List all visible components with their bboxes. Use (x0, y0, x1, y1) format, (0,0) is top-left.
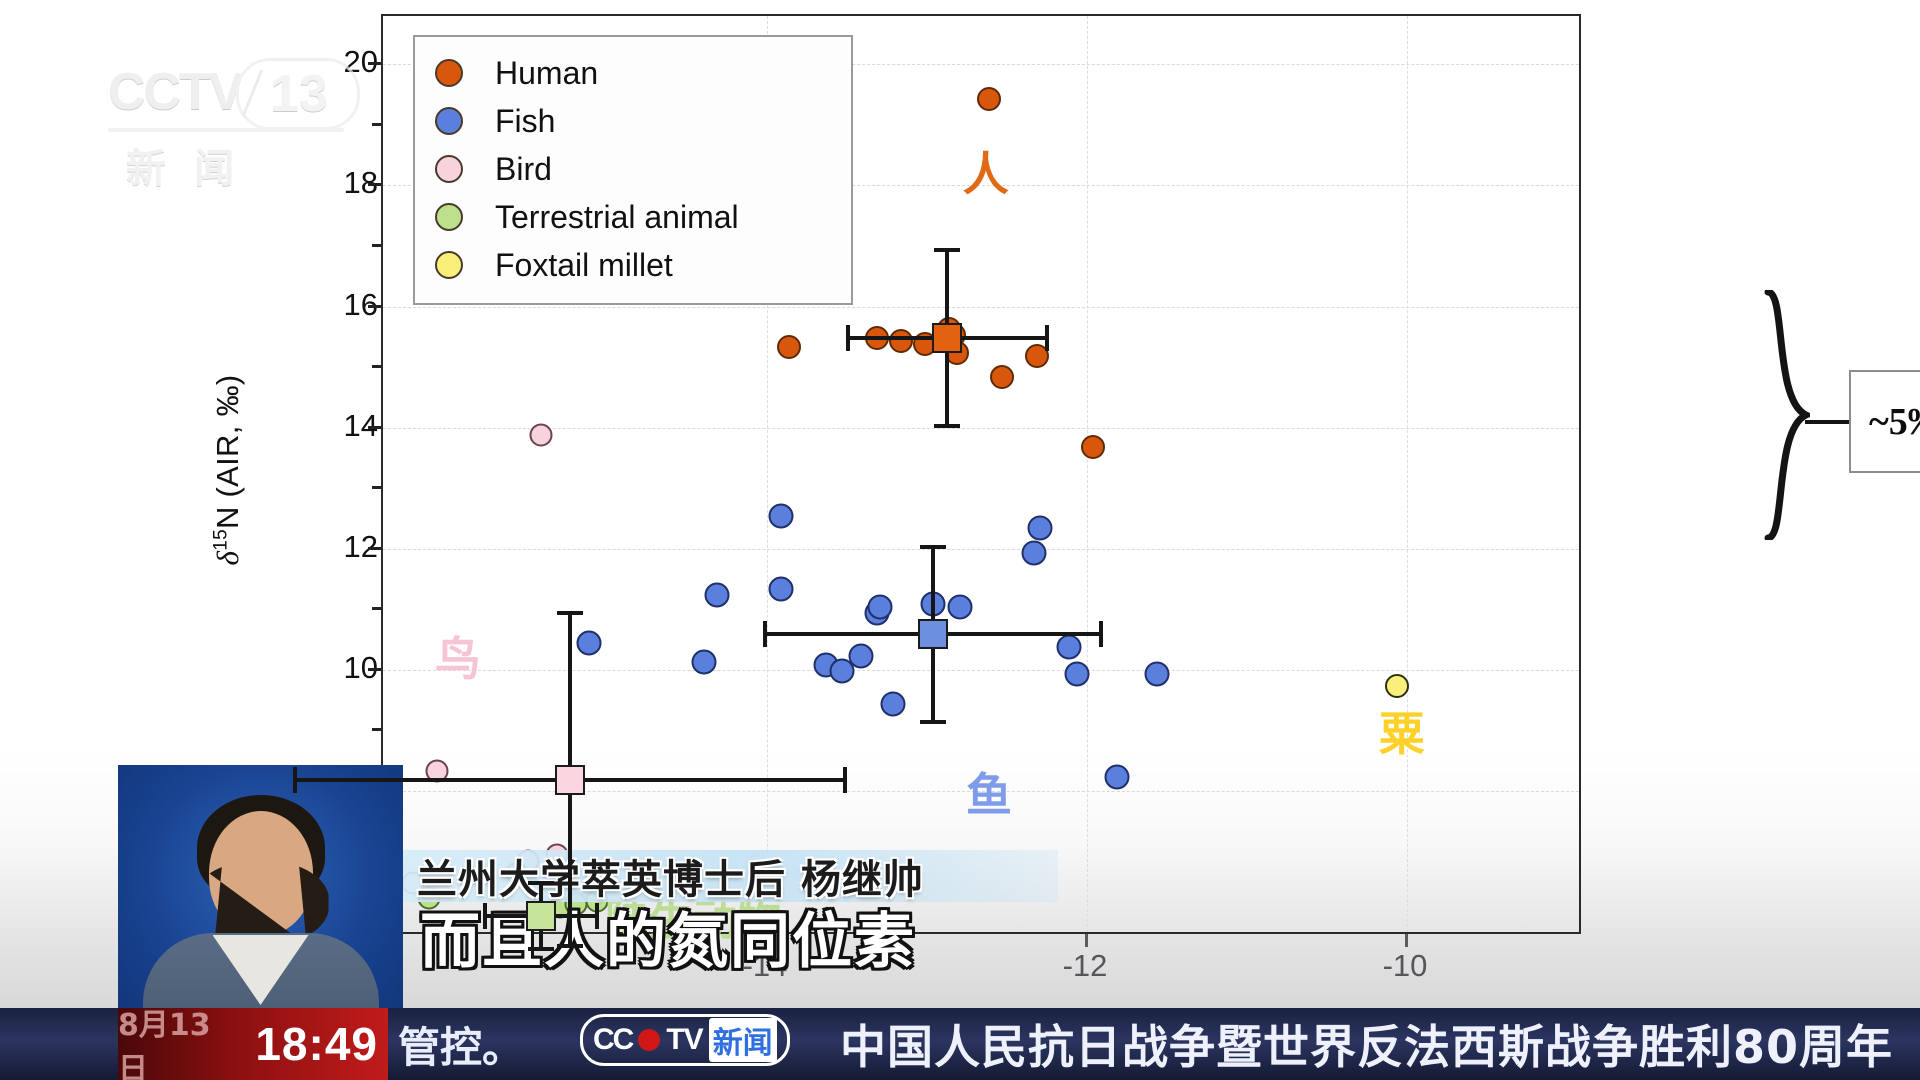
legend-item-terrestrial-animal: Terrestrial animal (435, 193, 835, 241)
y-tick-mark (368, 183, 381, 186)
data-point-human (777, 335, 801, 359)
legend-item-bird: Bird (435, 145, 835, 193)
data-point-fish (881, 692, 906, 717)
screenshot-root: 人鱼鸟陆生动物粟 8101214161820-14-12-10 ~5‰ δ15N… (0, 0, 1920, 1080)
cctv-watermark: CCTV 13 新闻 (108, 66, 348, 178)
error-bar-cap (528, 881, 554, 885)
data-point-fish (1021, 540, 1046, 565)
y-minor-tick-mark (372, 244, 381, 247)
mean-marker-human (932, 323, 962, 353)
y-minor-tick-mark (372, 607, 381, 610)
badge-tv-text: TV (666, 1023, 702, 1057)
y-gridline (383, 307, 1579, 308)
data-point-fish (769, 577, 794, 602)
mean-marker-fish (918, 619, 948, 649)
error-bar-cap (763, 621, 767, 647)
legend-item-label: Fish (495, 105, 555, 137)
data-point-fish (1057, 634, 1082, 659)
clock-widget: 8月13日 18:49 (118, 1008, 388, 1080)
x-gridline (1407, 16, 1408, 932)
y-gridline (383, 428, 1579, 429)
error-bar-cap (920, 545, 946, 549)
y-tick-mark (368, 426, 381, 429)
callout-label: ~5‰ (1851, 400, 1920, 444)
data-point-fish (577, 631, 602, 656)
data-point-fish (1145, 661, 1170, 686)
watermark-underline (108, 128, 344, 132)
data-point-human (889, 329, 913, 353)
annotation-human: 人 (963, 138, 1009, 204)
legend-swatch-icon (435, 155, 463, 183)
data-point-fish (1028, 516, 1053, 541)
legend-swatch-icon (435, 107, 463, 135)
y-minor-tick-mark (372, 123, 381, 126)
data-point-fish (948, 595, 973, 620)
data-point-fish (769, 504, 794, 529)
y-tick-mark (368, 62, 381, 65)
y-minor-tick-mark (372, 728, 381, 731)
watermark-channel-number: 13 (270, 64, 328, 124)
legend-item-label: Foxtail millet (495, 249, 673, 281)
y-tick-mark (368, 668, 381, 671)
legend-item-label: Human (495, 57, 598, 89)
data-point-fish (692, 649, 717, 674)
subtitle-caption: 而且人的氮同位素 (420, 900, 916, 972)
x-tick-mark (1405, 934, 1408, 947)
badge-red-dot-icon (638, 1029, 660, 1051)
error-bar-cap (595, 903, 599, 929)
y-axis-label: δ15N (AIR, ‰) (210, 374, 246, 565)
watermark-news-text: 新闻 (126, 136, 262, 194)
y-minor-tick-mark (372, 365, 381, 368)
delta-callout-box: ~5‰ (1849, 370, 1920, 473)
error-bar-cap (557, 611, 583, 615)
error-bar-cap (557, 944, 583, 948)
error-bar-cap (483, 903, 487, 929)
error-bar-cap (293, 767, 297, 793)
badge-news-text: 新闻 (709, 1018, 777, 1062)
y-gridline (383, 670, 1579, 671)
cctv-news-badge: CC TV 新闻 (580, 1014, 790, 1066)
y-tick-mark (368, 305, 381, 308)
data-point-bird (530, 423, 553, 446)
y-tick-mark (368, 547, 381, 550)
error-bar-cap (934, 248, 960, 252)
ticker-headline: 中国人民抗日战争暨世界反法西斯战争胜利80周年 (840, 1008, 1893, 1080)
x-tick-label: -12 (1063, 948, 1108, 984)
data-point-fish (1105, 764, 1130, 789)
legend-item-human: Human (435, 49, 835, 97)
data-point-human (977, 87, 1001, 111)
legend-swatch-icon (435, 59, 463, 87)
data-point-fish (849, 643, 874, 668)
y-minor-tick-mark (372, 486, 381, 489)
error-bar-cap (920, 720, 946, 724)
legend-item-label: Terrestrial animal (495, 201, 739, 233)
annotation-bird: 鸟 (435, 623, 481, 689)
legend-item-label: Bird (495, 153, 552, 185)
data-point-millet (1385, 674, 1409, 698)
mean-marker-bird (555, 765, 585, 795)
error-bar-cap (1099, 621, 1103, 647)
x-gridline (1087, 16, 1088, 932)
legend-swatch-icon (435, 203, 463, 231)
callout-leader-line (1805, 420, 1851, 424)
error-bar-cap (1045, 325, 1049, 351)
x-tick-label: -10 (1383, 948, 1428, 984)
error-bar-cap (843, 767, 847, 793)
data-point-fish (1065, 661, 1090, 686)
data-point-fish (705, 583, 730, 608)
error-bar-cap (846, 325, 850, 351)
badge-cc-text: CC (593, 1023, 632, 1057)
data-point-human (990, 365, 1014, 389)
chart-legend: HumanFishBirdTerrestrial animalFoxtail m… (413, 35, 853, 305)
ticker-prefix-text: 管控。 (398, 1008, 524, 1080)
error-bar-cap (528, 947, 554, 951)
clock-time: 18:49 (255, 1008, 378, 1080)
annotation-millet: 粟 (1379, 698, 1425, 764)
data-point-human (1081, 435, 1105, 459)
date-label: 8月13日 (118, 1008, 228, 1080)
error-bar-cap (934, 424, 960, 428)
y-gridline (383, 549, 1579, 550)
x-tick-mark (1085, 934, 1088, 947)
range-brace-icon (1764, 290, 1810, 540)
mean-marker-terr (526, 901, 556, 931)
legend-item-foxtail-millet: Foxtail millet (435, 241, 835, 289)
annotation-fish: 鱼 (966, 759, 1012, 825)
legend-item-fish: Fish (435, 97, 835, 145)
legend-swatch-icon (435, 251, 463, 279)
data-point-fish (868, 595, 893, 620)
